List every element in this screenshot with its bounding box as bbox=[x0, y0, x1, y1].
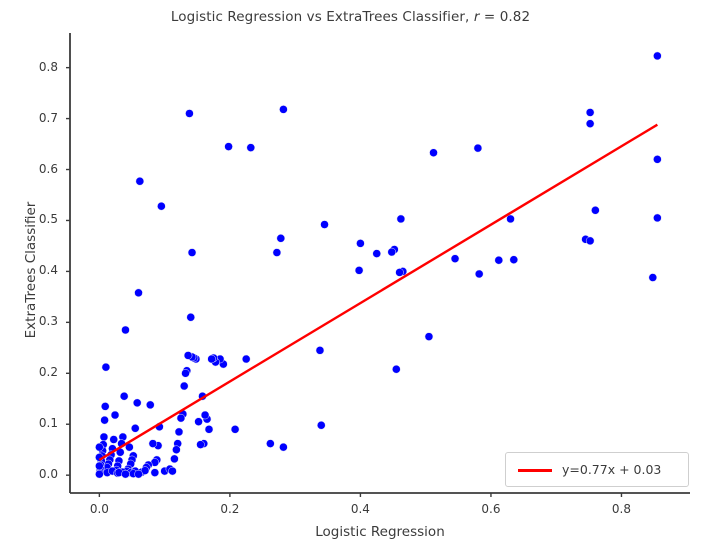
scatter-point bbox=[133, 399, 141, 407]
scatter-point bbox=[266, 440, 274, 448]
scatter-point bbox=[188, 249, 196, 257]
scatter-point bbox=[172, 446, 180, 454]
scatter-point bbox=[388, 248, 396, 256]
scatter-point bbox=[205, 425, 213, 433]
scatter-point bbox=[151, 469, 159, 477]
scatter-point bbox=[475, 270, 483, 278]
scatter-point bbox=[273, 249, 281, 257]
scatter-point bbox=[157, 202, 165, 210]
scatter-point bbox=[279, 443, 287, 451]
scatter-point bbox=[100, 433, 108, 441]
scatter-point bbox=[197, 441, 205, 449]
scatter-point bbox=[180, 382, 188, 390]
x-tick-label: 0.0 bbox=[76, 502, 122, 516]
scatter-point bbox=[316, 346, 324, 354]
scatter-point bbox=[242, 355, 250, 363]
legend[interactable]: y=0.77x + 0.03 bbox=[505, 452, 689, 487]
scatter-point bbox=[397, 215, 405, 223]
scatter-point bbox=[101, 416, 109, 424]
scatter-point bbox=[653, 214, 661, 222]
scatter-point bbox=[356, 239, 364, 247]
scatter-point bbox=[430, 149, 438, 157]
x-tick-label: 0.6 bbox=[468, 502, 514, 516]
scatter-point bbox=[231, 425, 239, 433]
scatter-point bbox=[510, 256, 518, 264]
y-tick-label: 0.8 bbox=[18, 60, 58, 74]
scatter-point bbox=[185, 109, 193, 117]
scatter-point bbox=[135, 289, 143, 297]
y-tick-label: 0.1 bbox=[18, 416, 58, 430]
scatter-point bbox=[392, 365, 400, 373]
chart-figure: Logistic Regression vs ExtraTrees Classi… bbox=[0, 0, 701, 558]
scatter-point bbox=[101, 402, 109, 410]
y-axis-label: ExtraTrees Classifier bbox=[23, 160, 39, 380]
scatter-point bbox=[247, 144, 255, 152]
scatter-point bbox=[187, 313, 195, 321]
scatter-point bbox=[355, 266, 363, 274]
scatter-point bbox=[136, 177, 144, 185]
scatter-point bbox=[121, 470, 129, 478]
y-tick-label: 0.7 bbox=[18, 111, 58, 125]
scatter-point bbox=[586, 108, 594, 116]
x-tick-label: 0.2 bbox=[207, 502, 253, 516]
scatter-point bbox=[201, 411, 209, 419]
legend-label: y=0.77x + 0.03 bbox=[562, 462, 661, 477]
scatter-point bbox=[653, 52, 661, 60]
scatter-point bbox=[110, 436, 118, 444]
scatter-point bbox=[495, 256, 503, 264]
scatter-point bbox=[451, 255, 459, 263]
regression-trendline bbox=[99, 125, 657, 460]
scatter-point bbox=[95, 470, 103, 478]
scatter-point bbox=[111, 411, 119, 419]
scatter-point bbox=[170, 455, 178, 463]
scatter-point bbox=[208, 355, 216, 363]
scatter-points-layer bbox=[95, 52, 661, 478]
scatter-point bbox=[175, 428, 183, 436]
scatter-point bbox=[225, 143, 233, 151]
x-axis-label: Logistic Regression bbox=[70, 524, 690, 540]
scatter-point bbox=[279, 105, 287, 113]
axis-spines bbox=[70, 33, 690, 493]
scatter-point bbox=[102, 363, 110, 371]
scatter-point bbox=[177, 414, 185, 422]
scatter-point bbox=[321, 221, 329, 229]
scatter-point bbox=[425, 333, 433, 341]
scatter-point bbox=[184, 351, 192, 359]
scatter-point bbox=[146, 401, 154, 409]
scatter-point bbox=[168, 467, 176, 475]
scatter-point bbox=[591, 206, 599, 214]
scatter-point bbox=[131, 424, 139, 432]
scatter-point bbox=[507, 215, 515, 223]
scatter-point bbox=[474, 144, 482, 152]
scatter-point bbox=[135, 470, 143, 478]
scatter-point bbox=[95, 462, 103, 470]
scatter-point bbox=[649, 274, 657, 282]
scatter-point bbox=[95, 443, 103, 451]
scatter-point bbox=[653, 155, 661, 163]
scatter-point bbox=[121, 326, 129, 334]
trendline-layer bbox=[99, 125, 657, 460]
legend-line-swatch bbox=[518, 469, 552, 472]
scatter-point bbox=[182, 369, 190, 377]
scatter-point bbox=[373, 250, 381, 258]
scatter-point bbox=[149, 440, 157, 448]
scatter-point bbox=[586, 120, 594, 128]
y-tick-label: 0.0 bbox=[18, 467, 58, 481]
scatter-point bbox=[586, 237, 594, 245]
scatter-point bbox=[277, 234, 285, 242]
scatter-point bbox=[396, 268, 404, 276]
x-tick-label: 0.4 bbox=[337, 502, 383, 516]
scatter-point bbox=[120, 392, 128, 400]
scatter-point bbox=[195, 418, 203, 426]
scatter-point bbox=[317, 421, 325, 429]
x-tick-label: 0.8 bbox=[598, 502, 644, 516]
